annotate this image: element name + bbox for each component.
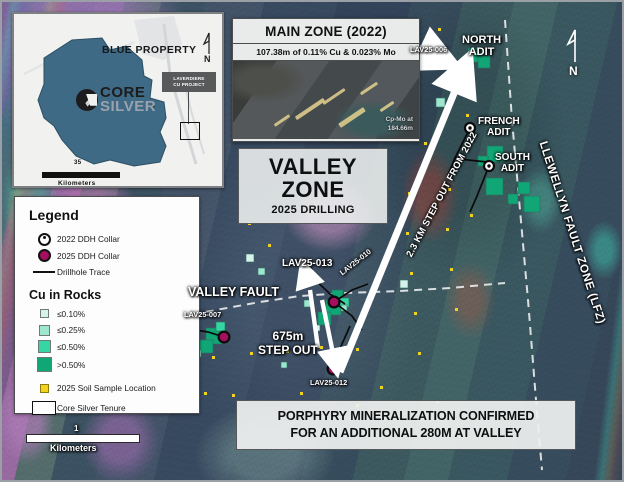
drillhole-trace-icon: [31, 271, 57, 273]
headline-banner: PORPHYRY MINERALIZATION CONFIRMED FOR AN…: [236, 400, 576, 450]
valley-zone-callout: VALLEY ZONE 2025 DRILLING: [238, 148, 388, 224]
legend-item-tenure: Core Silver Tenure: [25, 398, 189, 418]
main-zone-title: MAIN ZONE (2022): [233, 19, 419, 44]
inset-scale-unit: Kilometers: [58, 180, 96, 187]
legend-label: 2025 DDH Collar: [57, 251, 120, 261]
south-adit-line-2: ADIT: [495, 163, 530, 174]
legend-label: ≤0.50%: [57, 342, 85, 352]
north-letter: N: [569, 64, 578, 78]
cp-streak-icon: [338, 107, 366, 128]
logo-word-silver: SILVER: [100, 100, 156, 114]
valley-zone-line-2: ZONE: [281, 179, 344, 202]
core-silver-logo: CORE SILVER: [76, 86, 156, 114]
step-out-675-line-2: STEP OUT: [258, 344, 318, 358]
legend-item-2025-collar: 2025 DDH Collar: [25, 248, 189, 265]
french-adit-line-2: ADIT: [478, 127, 520, 138]
inset-north-arrow: N: [200, 32, 218, 71]
legend-label: 2022 DDH Collar: [57, 234, 120, 244]
callout-leader-line: [188, 92, 189, 124]
inset-title: BLUE PROPERTY: [102, 44, 196, 56]
legend-label: Drillhole Trace: [57, 267, 110, 277]
north-arrow-icon: [562, 28, 588, 68]
scale-bar-graphic: [26, 434, 140, 443]
cu-swatch-icon: [31, 309, 57, 318]
north-adit-line-1: NORTH: [462, 34, 501, 46]
north-adit-line-2: ADIT: [462, 46, 501, 58]
cp-streak-icon: [274, 114, 291, 127]
cu-swatch-icon: [31, 325, 57, 336]
label-drillhole-lav25-012: LAV25-012: [310, 378, 347, 387]
main-zone-result: 107.38m of 0.11% Cu & 0.023% Mo: [233, 44, 419, 61]
legend-label: ≤0.10%: [57, 309, 85, 319]
collar-2025-icon: [31, 249, 57, 262]
legend-panel: Legend 2022 DDH Collar 2025 DDH Collar D…: [14, 196, 200, 414]
inset-north-letter: N: [204, 54, 211, 64]
legend-item-soil-sample: 2025 Soil Sample Location: [25, 378, 189, 398]
legend-title: Legend: [29, 207, 189, 223]
valley-zone-line-3: 2025 DRILLING: [271, 204, 354, 216]
banner-line-1: PORPHYRY MINERALIZATION CONFIRMED: [278, 408, 535, 425]
label-south-adit: SOUTH ADIT: [495, 152, 530, 174]
main-zone-panel: MAIN ZONE (2022) 107.38m of 0.11% Cu & 0…: [232, 18, 420, 142]
inset-locator-map: BLUE PROPERTY CORE SILVER LAVERDIERE CU …: [12, 12, 224, 188]
inset-scale-bar: [42, 172, 120, 178]
project-location-box: [180, 122, 200, 140]
cp-streak-icon: [360, 82, 378, 96]
label-drillhole-lav25-006: LAV25-006: [410, 45, 447, 54]
core-photo: Cp-Mo at 184.66m: [233, 61, 419, 139]
legend-label: Core Silver Tenure: [57, 403, 126, 413]
label-step-out-675m: 675m STEP OUT: [258, 330, 318, 358]
legend-cu-title: Cu in Rocks: [29, 288, 189, 302]
label-valley-fault: VALLEY FAULT: [188, 285, 279, 299]
south-adit-line-1: SOUTH: [495, 152, 530, 163]
label-drillhole-lav25-007: LAV25-007: [184, 310, 221, 319]
step-out-675-line-1: 675m: [258, 330, 318, 344]
callout-line-2: CU PROJECT: [173, 82, 205, 88]
core-silver-mark-icon: [76, 89, 98, 111]
map-scale-bar: 1 Kilometers: [14, 424, 164, 458]
legend-label: 2025 Soil Sample Location: [57, 383, 156, 393]
laverdiere-callout-box: LAVERDIERE CU PROJECT: [162, 72, 216, 92]
legend-label: >0.50%: [57, 360, 85, 370]
photo-caption-line-1: Cp-Mo at: [386, 116, 413, 123]
inset-scale-number: 35: [74, 160, 81, 166]
legend-item-drillhole-trace: Drillhole Trace: [25, 264, 189, 281]
legend-cu-class-4: >0.50%: [25, 355, 189, 374]
scale-unit: Kilometers: [50, 443, 97, 453]
tenure-icon: [31, 401, 57, 415]
photo-caption-line-2: 184.66m: [388, 125, 413, 132]
legend-cu-class-1: ≤0.10%: [25, 306, 189, 323]
soil-sample-icon: [31, 384, 57, 393]
cp-streak-icon: [380, 101, 395, 112]
cu-swatch-icon: [31, 357, 57, 372]
collar-2022-icon: [31, 233, 57, 246]
cp-streak-icon: [322, 88, 345, 105]
legend-item-2022-collar: 2022 DDH Collar: [25, 231, 189, 248]
main-north-arrow: N: [562, 28, 588, 84]
cu-swatch-icon: [31, 340, 57, 353]
legend-label: ≤0.25%: [57, 325, 85, 335]
legend-cu-class-3: ≤0.50%: [25, 339, 189, 356]
label-north-adit: NORTH ADIT: [462, 34, 501, 58]
banner-line-2: FOR AN ADDITIONAL 280M AT VALLEY: [290, 425, 521, 442]
valley-zone-line-1: VALLEY: [269, 156, 357, 179]
cp-streak-icon: [295, 98, 325, 120]
legend-cu-class-2: ≤0.25%: [25, 322, 189, 339]
map-figure: BLUE PROPERTY CORE SILVER LAVERDIERE CU …: [0, 0, 624, 482]
scale-number: 1: [74, 424, 78, 433]
label-french-adit: FRENCH ADIT: [478, 116, 520, 138]
french-adit-line-1: FRENCH: [478, 116, 520, 127]
label-drillhole-lav25-013: LAV25-013: [282, 258, 332, 269]
